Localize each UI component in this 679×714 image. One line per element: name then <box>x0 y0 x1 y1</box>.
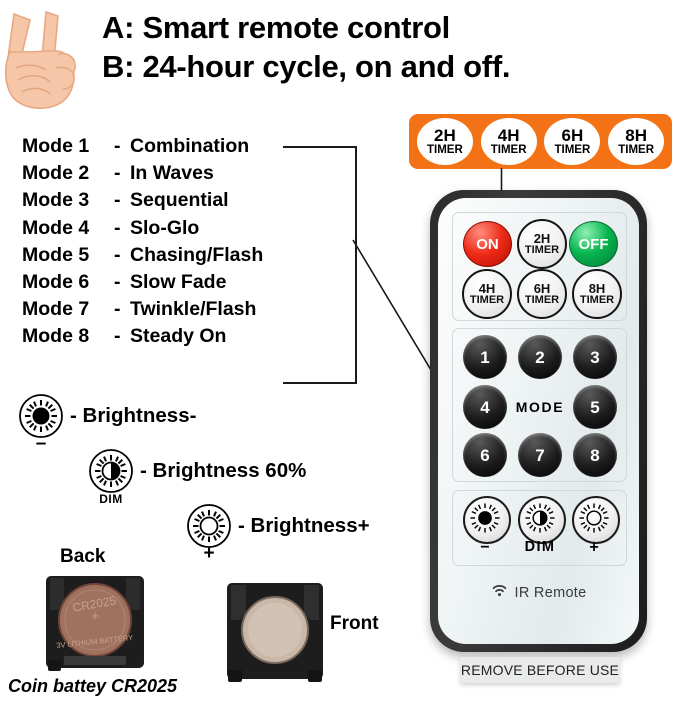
brightness-label: - Brightness 60% <box>140 459 306 483</box>
timer-4h-button[interactable]: 4H TIMER <box>462 269 512 319</box>
mode-name: Combination <box>130 135 249 157</box>
mode-key-6[interactable]: 6 <box>463 433 507 477</box>
ir-remote-text: IR Remote <box>515 585 587 601</box>
timer-6h-line2: TIMER <box>525 295 559 306</box>
timer-badge-6h[interactable]: 6H TIMER <box>544 118 600 165</box>
mode-number: Mode 5 <box>22 242 114 269</box>
mode-dash: - <box>114 323 130 350</box>
timer-badge-4h[interactable]: 4H TIMER <box>481 118 537 165</box>
mode-number: Mode 3 <box>22 187 114 214</box>
timer-badge-word: TIMER <box>491 145 527 157</box>
mode-dash: - <box>114 160 130 187</box>
brightness-row-dim: - Brightness 60% DIM <box>88 448 134 494</box>
battery-back-label: Back <box>60 546 105 568</box>
brightness-label: - Brightness- <box>70 404 196 428</box>
mode-dash: - <box>114 215 130 242</box>
remote-face: ON 2H TIMER OFF 4H TIMER 6H TIMER 8H TIM… <box>438 198 639 644</box>
timer-8h-line2: TIMER <box>580 295 614 306</box>
timer-8h-button[interactable]: 8H TIMER <box>572 269 622 319</box>
mode-list-item: Mode 1-Combination <box>22 133 322 160</box>
mode-key-3[interactable]: 3 <box>573 335 617 379</box>
mode-key-1[interactable]: 1 <box>463 335 507 379</box>
timer-2h-line2: TIMER <box>525 245 559 256</box>
off-button[interactable]: OFF <box>569 221 618 267</box>
header-block: A: Smart remote control B: 24-hour cycle… <box>102 8 662 86</box>
header-key-b: B: <box>102 47 134 86</box>
battery-back-image: CR2025 + 3V LITHIUM BATTERY <box>40 570 150 680</box>
dim-plus-label: + <box>572 539 616 557</box>
mode-number: Mode 8 <box>22 323 114 350</box>
mode-key-2[interactable]: 2 <box>518 335 562 379</box>
mode-pad-label: MODE <box>511 399 569 415</box>
timer-4h-line2: TIMER <box>470 295 504 306</box>
timer-badge-word: TIMER <box>618 145 654 157</box>
header-text-b: 24-hour cycle, on and off. <box>142 49 510 84</box>
mode-name: Slow Fade <box>130 271 226 293</box>
header-line-b: B: 24-hour cycle, on and off. <box>102 47 662 86</box>
on-button[interactable]: ON <box>463 221 512 267</box>
mode-name: In Waves <box>130 162 214 184</box>
mode-name: Sequential <box>130 189 229 211</box>
brightness-label: - Brightness+ <box>238 514 370 538</box>
mode-dash: - <box>114 269 130 296</box>
mode-key-4[interactable]: 4 <box>463 385 507 429</box>
svg-text:+: + <box>91 608 99 623</box>
brightness-symbol: – <box>18 433 64 455</box>
remote-control: ON 2H TIMER OFF 4H TIMER 6H TIMER 8H TIM… <box>430 190 647 652</box>
remove-before-use-tab[interactable]: REMOVE BEFORE USE <box>460 657 620 683</box>
timer-badge-hours: 2H <box>434 127 456 144</box>
mode-dash: - <box>114 242 130 269</box>
mode-key-7[interactable]: 7 <box>518 433 562 477</box>
battery-front-image <box>222 578 328 691</box>
header-line-a: A: Smart remote control <box>102 8 662 47</box>
dim-panel: − DIM <box>452 490 627 566</box>
mode-number: Mode 4 <box>22 215 114 242</box>
brightness-symbol: + <box>186 543 232 565</box>
timer-badge-word: TIMER <box>427 145 463 157</box>
victory-hand-icon <box>2 6 80 114</box>
timer-badge-hours: 8H <box>625 127 647 144</box>
header-text-a: Smart remote control <box>142 10 450 45</box>
mode-number: Mode 7 <box>22 296 114 323</box>
mode-name: Slo-Glo <box>130 217 199 239</box>
timer-2h-button[interactable]: 2H TIMER <box>517 219 567 269</box>
timer-badge-8h[interactable]: 8H TIMER <box>608 118 664 165</box>
mode-dash: - <box>114 187 130 214</box>
mode-name: Chasing/Flash <box>130 244 263 266</box>
mode-number: Mode 6 <box>22 269 114 296</box>
brightness-sublabel: DIM <box>88 492 134 506</box>
mode-number: Mode 2 <box>22 160 114 187</box>
timer-badge-bar: 2H TIMER 4H TIMER 6H TIMER 8H TIMER <box>409 114 672 169</box>
timer-badge-word: TIMER <box>554 145 590 157</box>
timer-6h-button[interactable]: 6H TIMER <box>517 269 567 319</box>
mode-name: Steady On <box>130 325 226 347</box>
mode-dash: - <box>114 133 130 160</box>
ir-signal-icon <box>491 583 508 602</box>
header-key-a: A: <box>102 8 134 47</box>
dim-plus-button[interactable] <box>572 496 620 544</box>
battery-front-label: Front <box>330 613 379 635</box>
timer-badge-hours: 4H <box>498 127 520 144</box>
mode-key-5[interactable]: 5 <box>573 385 617 429</box>
power-timer-panel: ON 2H TIMER OFF 4H TIMER 6H TIMER 8H TIM… <box>452 212 627 321</box>
mode-list-item: Mode 2-In Waves <box>22 160 322 187</box>
mode-number: Mode 1 <box>22 133 114 160</box>
dim-half-button[interactable] <box>518 496 566 544</box>
mode-list-item: Mode 4-Slo-Glo <box>22 215 322 242</box>
mode-key-8[interactable]: 8 <box>573 433 617 477</box>
dim-word-label: DIM <box>513 539 567 555</box>
dim-minus-label: − <box>463 539 507 557</box>
mode-name: Twinkle/Flash <box>130 298 256 320</box>
brightness-row-minus: - Brightness- – <box>18 393 64 439</box>
ir-remote-footer: IR Remote <box>438 583 639 602</box>
mode-list-item: Mode 3-Sequential <box>22 187 322 214</box>
timer-badge-2h[interactable]: 2H TIMER <box>417 118 473 165</box>
sun-half-icon <box>88 448 134 494</box>
dim-minus-button[interactable] <box>463 496 511 544</box>
mode-keypad-panel: 1 2 3 4 MODE 5 6 7 8 <box>452 328 627 482</box>
mode-dash: - <box>114 296 130 323</box>
timer-badge-hours: 6H <box>562 127 584 144</box>
brightness-row-plus: - Brightness+ + <box>186 503 232 549</box>
